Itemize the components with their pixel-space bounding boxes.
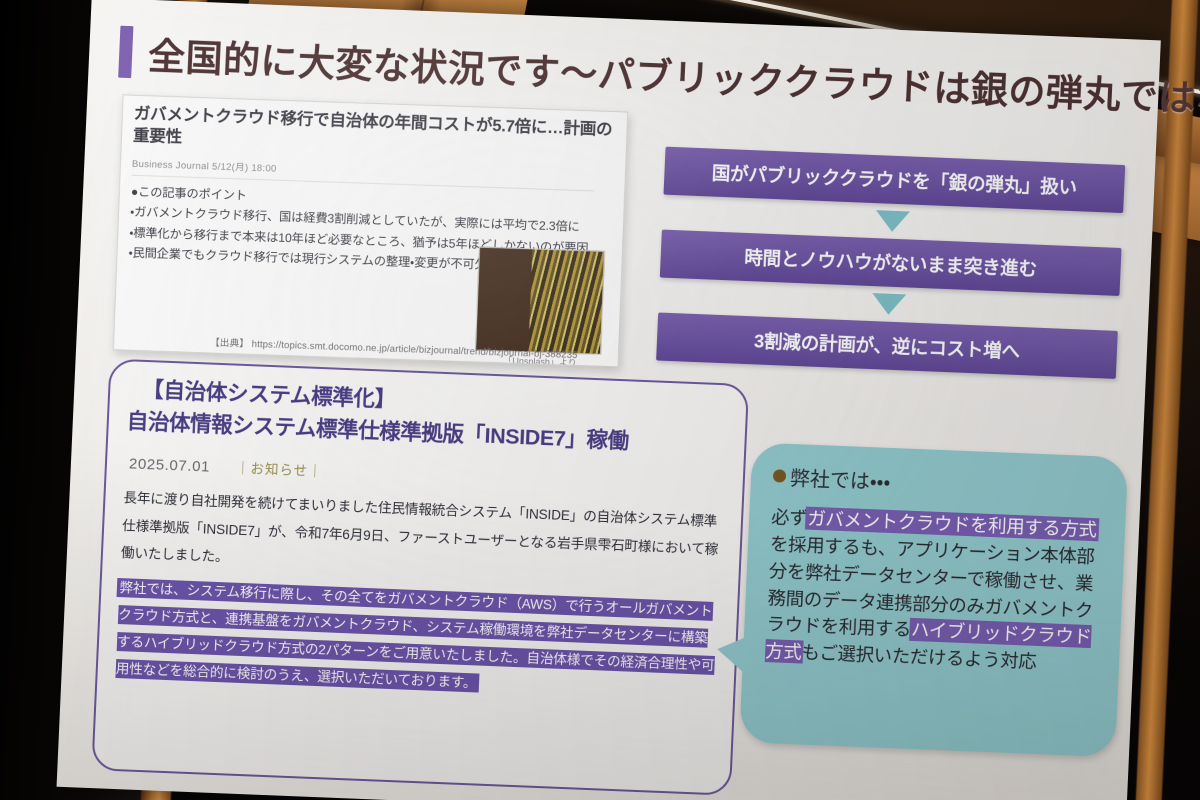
banner-stack: 国がパブリッククラウドを「銀の弾丸」扱い 時間とノウハウがないまま突き進む 3割…	[656, 147, 1125, 379]
release-date: 2025.07.01	[129, 456, 211, 476]
banner-item: 3割減の計画が、逆にコスト増へ	[656, 312, 1118, 378]
triangle-down-icon	[875, 210, 910, 232]
bubble-plain-phrase: 必ず	[771, 506, 808, 528]
news-source-prefix: 【出典】	[210, 337, 249, 349]
bubble-plain-phrase: もご選択いただけるよう対応	[801, 642, 1037, 672]
bubble-body: 必ずガバメントクラウドを利用する方式を採用するも、アプリケーション本体部分を弊社…	[765, 504, 1106, 678]
title-accent-bar	[118, 26, 133, 78]
release-tag-badge: ｜お知らせ｜	[236, 457, 324, 480]
news-body: 「Unsplash」より ●この記事のポイント ・ガバメントクラウド移行、国は経…	[128, 182, 613, 279]
banner-item: 国がパブリッククラウドを「銀の弾丸」扱い	[663, 147, 1125, 213]
news-article-card: ガバメントクラウド移行で自治体の年間コストが5.7倍に…計画の重要性 Busin…	[113, 94, 629, 367]
bubble-heading: 弊社では・・・	[772, 461, 1107, 503]
speech-bubble: 弊社では・・・ 必ずガバメントクラウドを利用する方式を採用するも、アプリケーショ…	[739, 442, 1128, 757]
banner-item: 時間とノウハウがないまま突き進む	[660, 230, 1122, 296]
news-thumbnail	[475, 246, 605, 354]
projection-screen: 全国的に大変な状況です～パブリッククラウドは銀の弾丸ではない！～ ガバメントクラ…	[57, 0, 1161, 800]
filled-circle-icon	[773, 469, 787, 483]
slide-content: 全国的に大変な状況です～パブリッククラウドは銀の弾丸ではない！～ ガバメントクラ…	[71, 6, 1147, 800]
release-highlight: 弊社では、システム移行に際し、その全てをガバメントクラウド（AWS）で行うオール…	[115, 574, 719, 707]
release-paragraph: 長年に渡り自社開発を続けてまいりました住民情報統合システム「INSIDE」の自治…	[120, 484, 723, 590]
triangle-down-icon	[871, 293, 906, 315]
press-release-box: 【自治体システム標準化】 自治体情報システム標準仕様準拠版「INSIDE7」稼働…	[91, 358, 749, 795]
photo-of-projected-slide: 全国的に大変な状況です～パブリッククラウドは銀の弾丸ではない！～ ガバメントクラ…	[0, 0, 1200, 800]
news-headline: ガバメントクラウド移行で自治体の年間コストが5.7倍に…計画の重要性	[133, 104, 616, 164]
release-highlight-text: 弊社では、システム移行に際し、その全てをガバメントクラウド（AWS）で行うオール…	[115, 578, 715, 693]
speech-bubble-tail	[716, 633, 752, 678]
bubble-heading-label: 弊社では・・・	[789, 462, 891, 495]
